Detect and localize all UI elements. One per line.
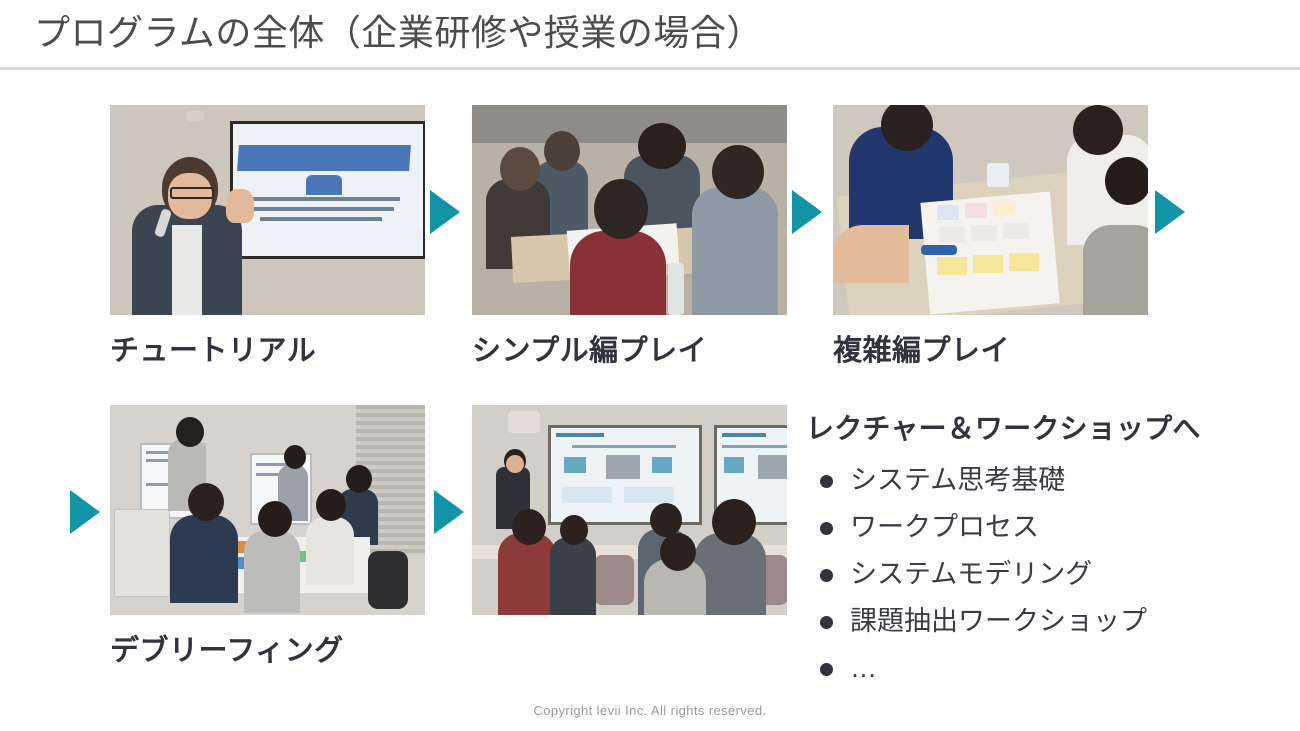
audience-body-2 xyxy=(550,537,596,615)
back-wall-band xyxy=(472,105,787,143)
list-item: ワークプロセス xyxy=(806,504,1286,551)
game-card-3 xyxy=(993,201,1015,216)
screen-slide-box-2 xyxy=(624,487,674,503)
photo-tutorial-presenter xyxy=(110,105,425,315)
participant-body-striped xyxy=(306,517,354,585)
audience-head-4 xyxy=(660,533,696,571)
backpack xyxy=(368,551,408,609)
bullet-dot-icon xyxy=(820,616,833,629)
lecture-workshop-block: レクチャー＆ワークショップへ システム思考基礎 ワークプロセス システムモデリン… xyxy=(806,411,1286,692)
chair-left xyxy=(594,555,634,605)
projector-icon xyxy=(186,111,204,121)
photo-lecture-hall xyxy=(472,405,787,615)
screen-slide-subtitle xyxy=(572,445,676,448)
game-card-1 xyxy=(937,205,959,220)
presenter-shirt xyxy=(172,225,202,315)
screen-slide-title xyxy=(556,433,604,437)
bullet-dot-icon xyxy=(820,569,833,582)
game-card-9 xyxy=(1009,253,1039,271)
ceiling-projector-icon xyxy=(508,411,540,433)
photo-simple-play-table xyxy=(472,105,787,315)
flow-step-label-simple-play: シンプル編プレイ xyxy=(472,327,707,369)
game-card-8 xyxy=(973,255,1003,273)
participant-head-hoodie xyxy=(258,501,292,537)
lecture-topic-list: システム思考基礎 ワークプロセス システムモデリング 課題抽出ワークショップ … xyxy=(806,457,1286,692)
audience-head-2 xyxy=(560,515,588,545)
arrow-rowbreak-to-debriefing xyxy=(70,490,100,534)
participant-head-standing xyxy=(284,445,306,469)
bullet-dot-icon xyxy=(820,663,833,676)
lecture-heading: レクチャー＆ワークショップへ xyxy=(806,411,1286,447)
storage-shelf xyxy=(114,509,170,597)
water-bottle xyxy=(668,263,684,315)
list-item: システムモデリング xyxy=(806,551,1286,598)
participant-head-front xyxy=(188,483,224,521)
participant-body-hoodie xyxy=(244,531,300,613)
screen2-slide-subtitle xyxy=(722,445,787,448)
slide-root: プログラムの全体（企業研修や授業の場合） xyxy=(0,0,1300,731)
screen2-slide-image xyxy=(758,455,787,479)
presenter-hand xyxy=(226,189,254,223)
screen-slide-block-1 xyxy=(564,457,586,473)
participant-head-right xyxy=(1073,105,1123,155)
participant-head-c xyxy=(594,179,648,239)
participant-head-striped xyxy=(316,489,346,521)
audience-head-5 xyxy=(712,499,756,545)
list-item: 課題抽出ワークショップ xyxy=(806,598,1286,645)
screen-slide-box-1 xyxy=(562,487,612,503)
participant-head-e xyxy=(712,145,764,199)
arrow-debriefing-to-lecture xyxy=(434,490,464,534)
photo-debriefing-whiteboards xyxy=(110,405,425,615)
blue-tokens xyxy=(921,245,957,255)
participant-head-a xyxy=(500,147,540,191)
list-item-label: 課題抽出ワークショップ xyxy=(850,606,1147,636)
copyright-footer: Copyright levii Inc. All rights reserved… xyxy=(0,703,1300,718)
participant-body-right-2 xyxy=(1083,225,1148,315)
flow-step-label-complex-play: 複雑編プレイ xyxy=(833,327,1010,369)
audience-head-1 xyxy=(512,509,546,545)
arrow-simple-to-complex xyxy=(792,190,822,234)
facilitator-head xyxy=(176,417,204,447)
slide-title-band xyxy=(237,145,411,171)
game-card-2 xyxy=(965,203,987,218)
photo-complex-play-board xyxy=(833,105,1148,315)
screen-slide-block-2 xyxy=(652,457,672,473)
participant-head-d xyxy=(638,123,686,169)
audience-body-1 xyxy=(498,533,556,615)
bullet-dot-icon xyxy=(820,522,833,535)
participant-head-right-2 xyxy=(1105,157,1148,205)
bullet-dot-icon xyxy=(820,475,833,488)
audience-head-3 xyxy=(650,503,682,537)
flow-step-label-debriefing: デブリーフィング xyxy=(110,627,344,669)
screen-slide-image xyxy=(606,455,640,479)
list-item: … xyxy=(806,645,1286,692)
slide-logo-shape xyxy=(306,175,342,195)
slide-text-line-2 xyxy=(252,207,394,211)
screen2-slide-title xyxy=(722,433,766,437)
game-card-4 xyxy=(939,227,965,243)
glasses-icon xyxy=(170,187,214,199)
participant-head-b xyxy=(544,131,580,171)
participant-head-far xyxy=(346,465,372,493)
slide-text-line-1 xyxy=(246,197,400,201)
participant-body-c xyxy=(570,231,666,315)
game-card-7 xyxy=(937,257,967,275)
list-item: システム思考基礎 xyxy=(806,457,1286,504)
list-item-label: システムモデリング xyxy=(850,559,1092,589)
title-divider xyxy=(0,67,1300,70)
participant-body-e xyxy=(692,187,778,315)
arrow-tutorial-to-simple xyxy=(430,190,460,234)
lecturer-face xyxy=(506,455,524,473)
arrow-complex-to-debriefing xyxy=(1155,190,1185,234)
participant-body-front xyxy=(170,515,238,603)
whiteboard-writing-5 xyxy=(256,473,280,476)
drinking-glass xyxy=(987,163,1009,187)
screen2-slide-block-1 xyxy=(724,457,744,473)
game-card-5 xyxy=(971,225,997,241)
list-item-label: … xyxy=(850,653,877,683)
participant-hands xyxy=(833,225,909,283)
game-card-6 xyxy=(1003,223,1029,239)
flow-step-label-tutorial: チュートリアル xyxy=(110,327,316,369)
page-title: プログラムの全体（企業研修や授業の場合） xyxy=(34,8,763,58)
list-item-label: システム思考基礎 xyxy=(850,465,1065,495)
slide-text-line-3 xyxy=(260,217,382,221)
list-item-label: ワークプロセス xyxy=(850,512,1039,542)
